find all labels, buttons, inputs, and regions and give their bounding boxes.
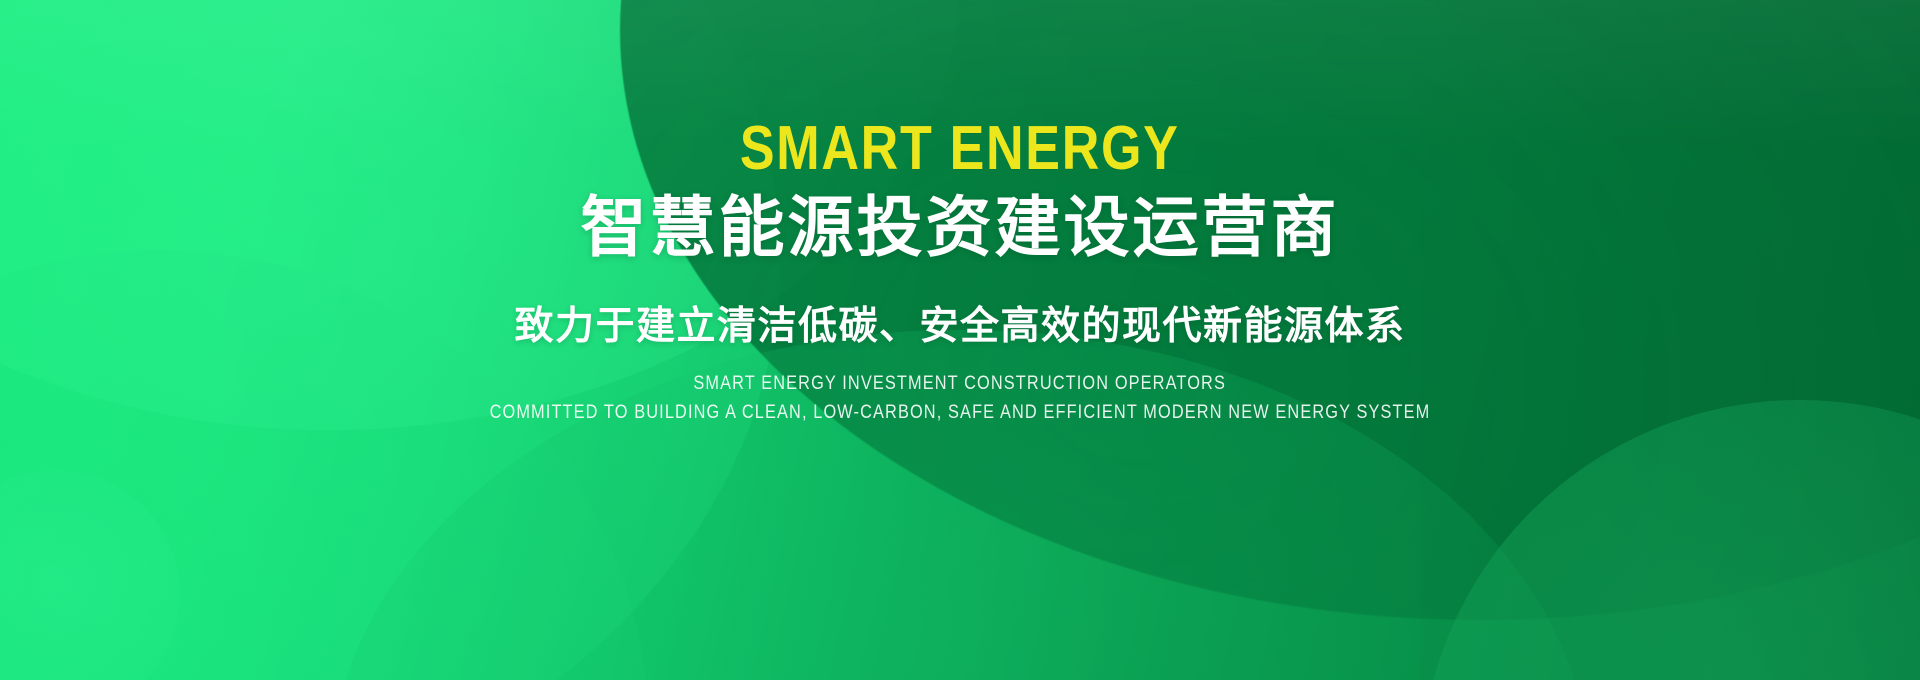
banner-english-tagline-1: SMART ENERGY INVESTMENT CONSTRUCTION OPE…	[694, 372, 1227, 396]
hero-banner: SMART ENERGY 智慧能源投资建设运营商 致力于建立清洁低碳、安全高效的…	[0, 0, 1920, 680]
banner-english-tagline-2: COMMITTED TO BUILDING A CLEAN, LOW-CARBO…	[490, 401, 1431, 425]
banner-headline-chinese: 智慧能源投资建设运营商	[581, 192, 1340, 263]
banner-english-taglines: SMART ENERGY INVESTMENT CONSTRUCTION OPE…	[413, 372, 1507, 425]
banner-content: SMART ENERGY 智慧能源投资建设运营商 致力于建立清洁低碳、安全高效的…	[0, 0, 1920, 680]
banner-subheadline-chinese: 致力于建立清洁低碳、安全高效的现代新能源体系	[514, 305, 1405, 350]
banner-eyebrow-english: SMART ENERGY	[740, 118, 1180, 180]
